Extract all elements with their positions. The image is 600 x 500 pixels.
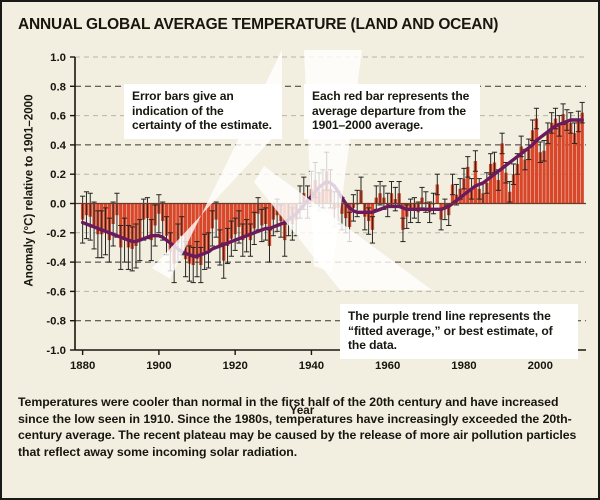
figure-caption: Temperatures were cooler than normal in …	[18, 394, 590, 461]
svg-text:1920: 1920	[222, 360, 247, 372]
y-axis-label: Anomaly (°C) relative to 1901–2000	[23, 56, 36, 326]
svg-text:0.2: 0.2	[50, 169, 66, 181]
chart-container: 1.00.80.60.40.20.0-0.2-0.4-0.6-0.8-1.0 1…	[2, 36, 600, 386]
svg-text:0.6: 0.6	[50, 111, 66, 123]
svg-text:-0.2: -0.2	[46, 228, 66, 240]
svg-text:1940: 1940	[299, 360, 324, 372]
svg-text:1900: 1900	[146, 360, 171, 372]
svg-text:1880: 1880	[70, 360, 95, 372]
svg-text:1.0: 1.0	[50, 52, 66, 64]
y-axis-tick-labels: 1.00.80.60.40.20.0-0.2-0.4-0.6-0.8-1.0	[46, 52, 66, 357]
svg-text:-0.6: -0.6	[46, 286, 66, 298]
svg-text:0.8: 0.8	[50, 81, 66, 93]
svg-text:0.4: 0.4	[50, 140, 66, 152]
callout-trend-line: The purple trend line represents the “fi…	[340, 304, 578, 359]
poster-frame: ANNUAL GLOBAL AVERAGE TEMPERATURE (LAND …	[0, 0, 600, 500]
svg-text:0.0: 0.0	[50, 199, 66, 211]
svg-text:-1.0: -1.0	[46, 345, 66, 357]
svg-text:-0.8: -0.8	[46, 316, 66, 328]
callout-error-bars: Error bars give an indication of the cer…	[124, 84, 282, 139]
callout-red-bar: Each red bar represents the average depa…	[304, 84, 480, 139]
x-axis-tick-labels: 1880190019201940196019802000	[70, 360, 553, 372]
svg-text:1980: 1980	[451, 360, 476, 372]
svg-text:1960: 1960	[375, 360, 400, 372]
svg-text:2000: 2000	[528, 360, 553, 372]
svg-text:-0.4: -0.4	[46, 257, 66, 269]
page-title: ANNUAL GLOBAL AVERAGE TEMPERATURE (LAND …	[18, 16, 498, 34]
